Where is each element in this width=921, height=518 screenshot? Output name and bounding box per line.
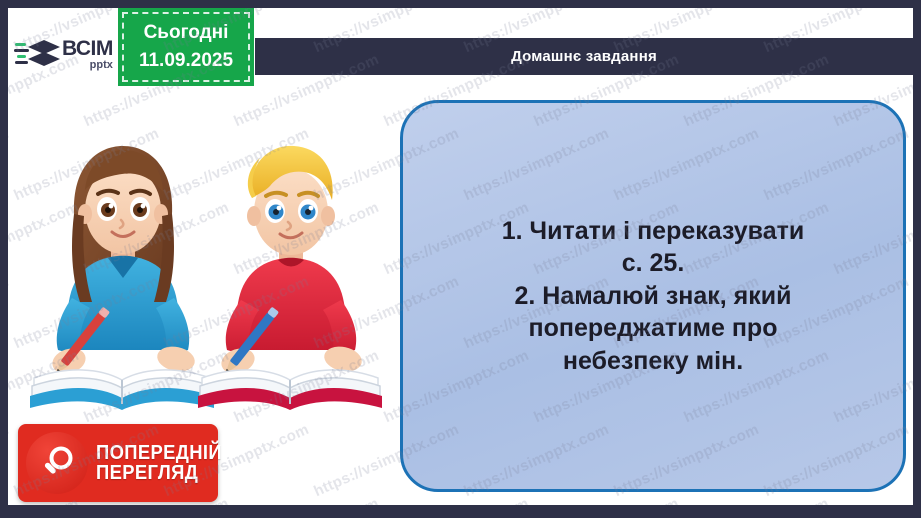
- date-badge-value: 11.09.2025: [139, 47, 233, 75]
- watermark-text: https://vsimpptx.com: [681, 495, 831, 505]
- children-illustration-svg: [18, 128, 388, 418]
- page-title: Домашнє завдання: [511, 48, 657, 65]
- children-illustration: [18, 128, 388, 418]
- homework-line-3: 2. Намалюй знак, який: [429, 280, 877, 313]
- homework-line-1: 1. Читати і переказувати: [429, 215, 877, 248]
- watermark-text: https://vsimpptx.com: [911, 125, 913, 204]
- watermark-text: https://vsimpptx.com: [911, 421, 913, 500]
- header-bar: Домашнє завдання: [255, 38, 913, 75]
- preview-line-1: ПОПЕРЕДНІЙ: [96, 443, 222, 463]
- brand-suffix: pptx: [90, 60, 113, 71]
- date-badge: Сьогодні 11.09.2025: [118, 8, 254, 86]
- magnifier-icon: [26, 432, 88, 494]
- homework-line-5: небезпеку мін.: [429, 345, 877, 378]
- watermark-text: https://vsimpptx.com: [8, 273, 12, 352]
- watermark-text: https://vsimpptx.com: [531, 495, 681, 505]
- brand-name: ВСІМ: [62, 38, 113, 59]
- girl-book: [30, 370, 214, 410]
- watermark-text: https://vsimpptx.com: [381, 495, 531, 505]
- preview-button-text: ПОПЕРЕДНІЙ ПЕРЕГЛЯД: [96, 443, 233, 484]
- homework-line-4: попереджатиме про: [429, 312, 877, 345]
- homework-line-2: с. 25.: [429, 247, 877, 280]
- preview-button[interactable]: ПОПЕРЕДНІЙ ПЕРЕГЛЯД: [18, 424, 218, 502]
- girl-figure: [49, 146, 197, 378]
- watermark-text: https://vsimpptx.com: [911, 273, 913, 352]
- brand-logo-text: ВСІМ pptx: [62, 38, 113, 71]
- brand-logo[interactable]: ВСІМ pptx: [8, 25, 128, 83]
- slide-outer-frame: 1. Читати і переказувати с. 25. 2. Намал…: [0, 0, 921, 518]
- slide-canvas: 1. Читати і переказувати с. 25. 2. Намал…: [8, 8, 913, 505]
- homework-content-box: 1. Читати і переказувати с. 25. 2. Намал…: [400, 100, 906, 492]
- boy-figure: [218, 146, 364, 378]
- magnifier-glyph: [37, 443, 77, 483]
- watermark-text: https://vsimpptx.com: [8, 125, 12, 204]
- graduation-cap-icon: [14, 34, 60, 74]
- boy-book: [198, 370, 382, 410]
- watermark-text: https://vsimpptx.com: [231, 495, 381, 505]
- preview-line-2: ПЕРЕГЛЯД: [96, 463, 222, 483]
- date-badge-label: Сьогодні: [144, 19, 229, 47]
- watermark-text: https://vsimpptx.com: [831, 495, 913, 505]
- watermark-text: https://vsimpptx.com: [8, 421, 12, 500]
